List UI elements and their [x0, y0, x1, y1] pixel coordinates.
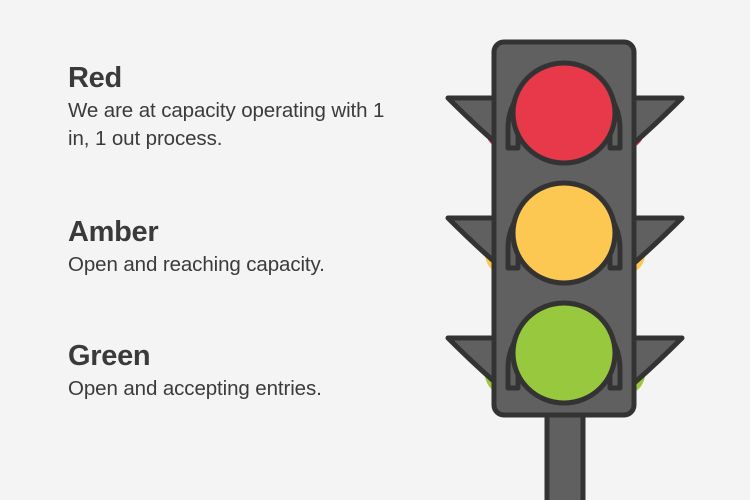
legend-title-red: Red — [68, 62, 418, 94]
legend-description-green: Open and accepting entries. — [68, 375, 388, 402]
legend-item-amber: Amber Open and reaching capacity. — [68, 216, 418, 279]
legend-description-red: We are at capacity operating with 1 in, … — [68, 97, 388, 152]
legend-item-green: Green Open and accepting entries. — [68, 340, 418, 403]
legend-title-amber: Amber — [68, 216, 418, 248]
red-lamp-group — [508, 63, 620, 163]
traffic-light-capacity-graphic: Red We are at capacity operating with 1 … — [0, 0, 750, 500]
amber-lamp-group — [508, 183, 620, 283]
red-lamp — [513, 63, 615, 163]
legend-item-red: Red We are at capacity operating with 1 … — [68, 62, 418, 152]
legend-list: Red We are at capacity operating with 1 … — [0, 0, 430, 500]
amber-lamp — [513, 183, 615, 283]
traffic-light-svg — [420, 0, 750, 500]
green-lamp — [513, 303, 615, 403]
green-lamp-group — [508, 303, 620, 403]
traffic-light-figure — [420, 0, 750, 500]
legend-description-amber: Open and reaching capacity. — [68, 251, 388, 278]
legend-title-green: Green — [68, 340, 418, 372]
